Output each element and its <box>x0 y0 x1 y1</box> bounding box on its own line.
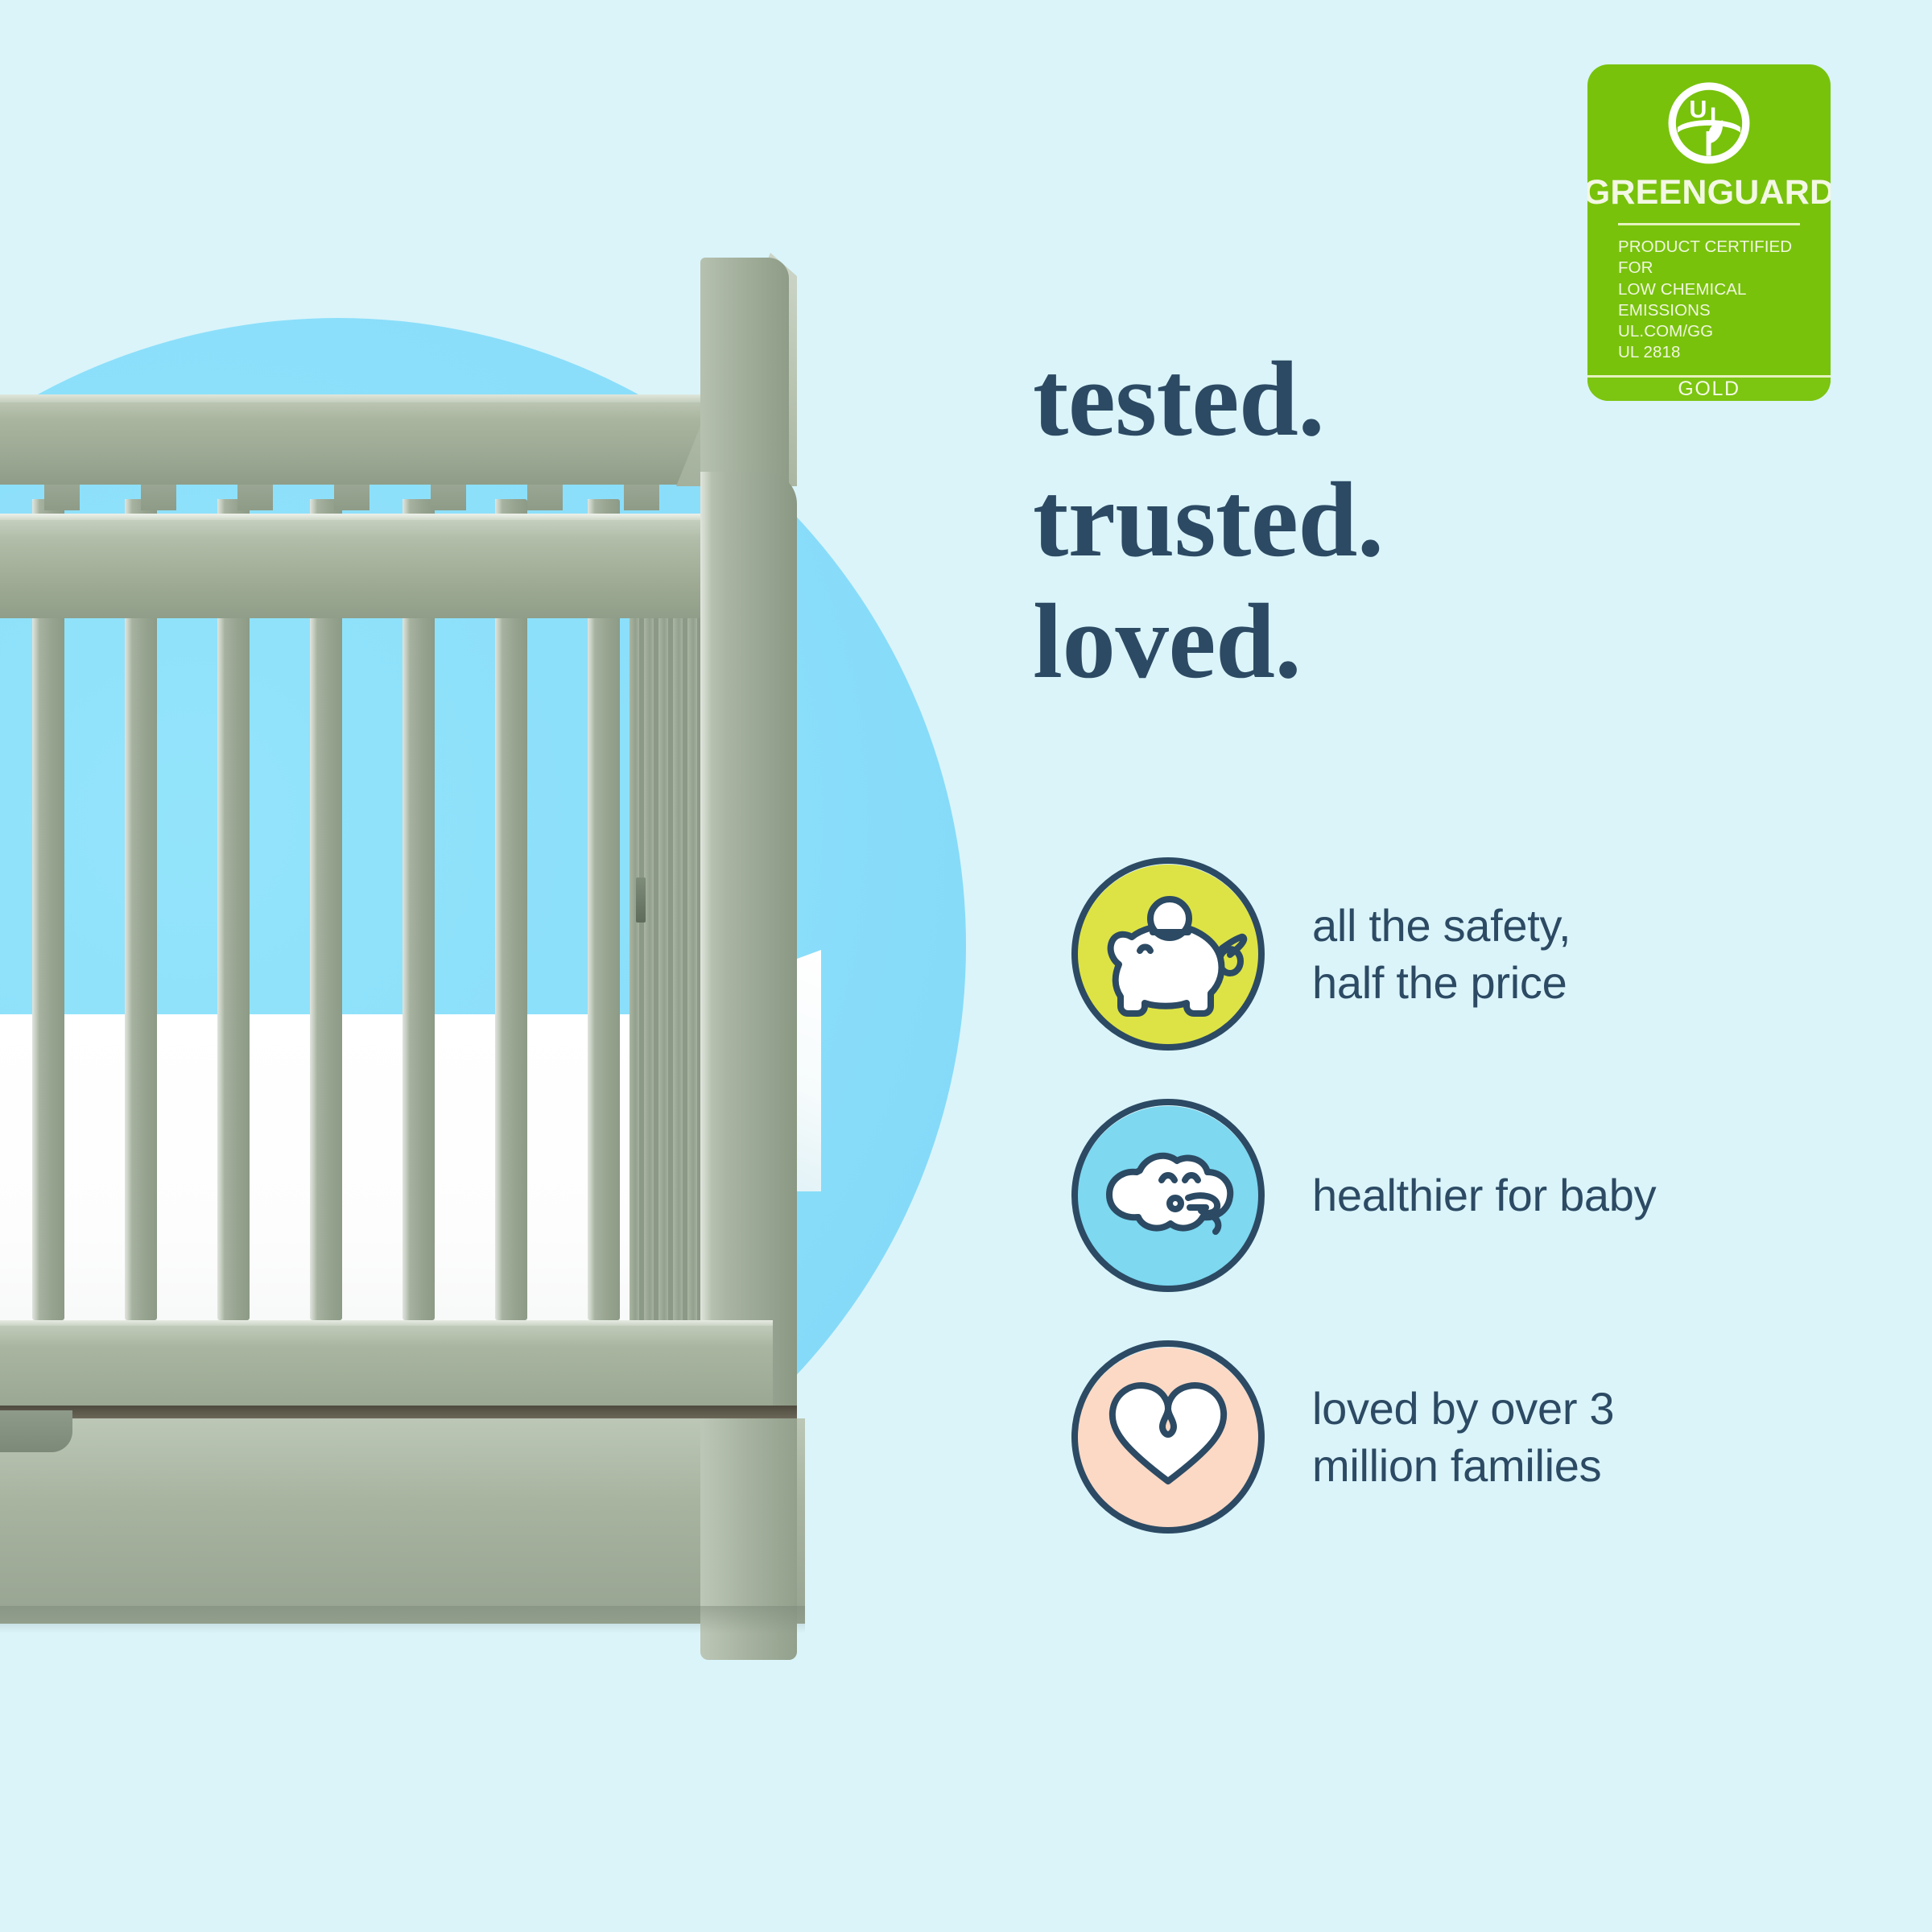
benefit-item: all the safety, half the price <box>1063 833 1876 1075</box>
crib-drawer-handle <box>0 1410 72 1452</box>
headline-line-1: tested. <box>1033 338 1661 459</box>
crib-slat-stub <box>237 485 273 510</box>
badge-cert-line-2: LOW CHEMICAL EMISSIONS <box>1618 279 1800 321</box>
crib-slat <box>495 499 527 1320</box>
benefit-label-line-2: million families <box>1312 1437 1614 1494</box>
benefit-label: all the safety, half the price <box>1312 897 1571 1011</box>
crib-storage-drawer <box>0 1418 805 1624</box>
benefit-item: healthier for baby <box>1063 1075 1876 1316</box>
svg-text:U: U <box>1689 96 1707 123</box>
benefit-label: healthier for baby <box>1312 1166 1656 1224</box>
crib-slat <box>588 499 620 1320</box>
benefit-label-line-1: healthier for baby <box>1312 1166 1656 1224</box>
crib-slat-stub <box>44 485 80 510</box>
crib-side-panel-slats <box>630 610 707 1423</box>
crib-back-rail <box>0 394 724 485</box>
headline: tested. trusted. loved. <box>1033 338 1661 701</box>
crib-hardware-plate <box>636 877 646 923</box>
heart-icon <box>1063 1331 1274 1542</box>
crib-product-photo <box>0 394 853 1650</box>
crib-slat <box>125 499 157 1320</box>
crib-slat-stub <box>527 485 563 510</box>
badge-cert-line-1: PRODUCT CERTIFIED FOR <box>1618 237 1800 279</box>
crib-front-rail-highlight <box>0 514 773 520</box>
crib-front-rail <box>0 514 773 618</box>
headline-line-3: loved. <box>1033 580 1661 701</box>
benefit-label-line-1: loved by over 3 <box>1312 1380 1614 1437</box>
cloud-breath-icon <box>1063 1090 1274 1301</box>
benefit-label: loved by over 3 million families <box>1312 1380 1614 1494</box>
crib-base-rail-highlight <box>0 1320 773 1326</box>
crib-corner-post-top <box>700 258 789 499</box>
crib-slat-stub <box>334 485 369 510</box>
crib-slat <box>217 499 250 1320</box>
piggy-bank-icon <box>1063 848 1274 1059</box>
crib-slat-stub <box>431 485 466 510</box>
benefits-list: all the safety, half the price <box>1063 833 1876 1558</box>
crib-back-rail-highlight <box>0 394 724 402</box>
crib-drawer-gap <box>0 1406 797 1418</box>
crib-drawer-shadow <box>0 1606 805 1633</box>
crib-slat <box>32 499 64 1320</box>
crib-slat <box>402 499 435 1320</box>
crib-base-rail <box>0 1320 773 1409</box>
crib-slat-stub <box>141 485 176 510</box>
crib-slat <box>310 499 342 1320</box>
crib-slat-stub <box>624 485 659 510</box>
badge-divider <box>1618 223 1800 225</box>
badge-level-label: GOLD <box>1678 378 1740 401</box>
marketing-image-canvas: U L GREENGUARD PRODUCT CERTIFIED FOR LOW… <box>0 0 1932 1932</box>
benefit-label-line-1: all the safety, <box>1312 897 1571 954</box>
benefit-label-line-2: half the price <box>1312 954 1571 1011</box>
headline-line-2: trusted. <box>1033 459 1661 580</box>
badge-title: GREENGUARD <box>1587 175 1831 210</box>
benefit-item: loved by over 3 million families <box>1063 1316 1876 1558</box>
ul-leaf-logo-icon: U L <box>1661 82 1757 164</box>
